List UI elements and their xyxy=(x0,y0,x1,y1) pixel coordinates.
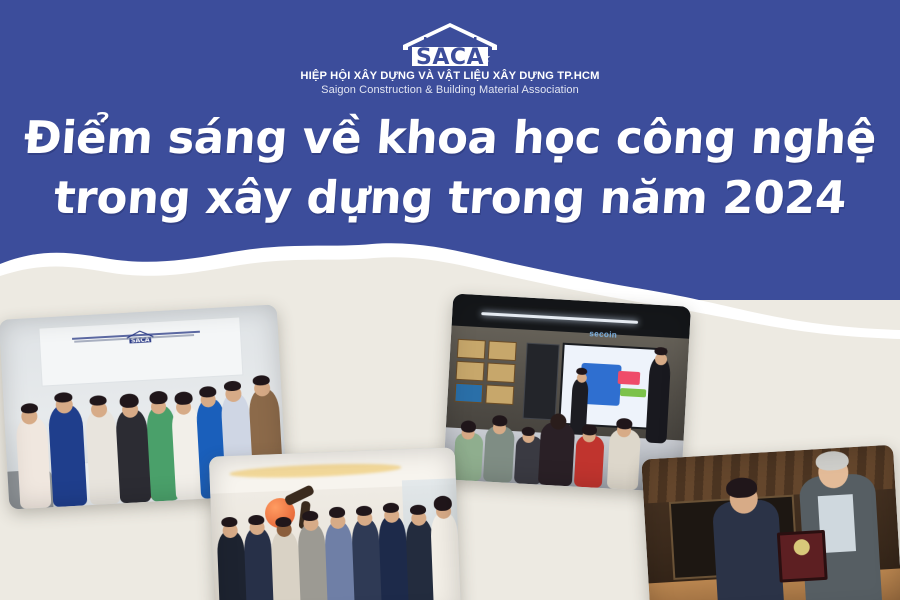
photo-vignette xyxy=(209,447,461,600)
photo-3-scene xyxy=(209,447,461,600)
svg-text:SACA: SACA xyxy=(416,45,484,66)
saca-house-logo-icon: SACA xyxy=(394,22,506,66)
title-line-2: trong xây dựng trong năm 2024 xyxy=(0,168,900,228)
collage-photo-3[interactable] xyxy=(209,447,461,600)
title-line-1: Điểm sáng về khoa học công nghệ xyxy=(0,108,900,168)
photo-vignette xyxy=(641,445,900,600)
collage-photo-4[interactable] xyxy=(641,445,900,600)
poster-canvas: SACA HIỆP HỘI XÂY DỰNG VÀ VẬT LIỆU XÂY D… xyxy=(0,0,900,600)
brand-name-vietnamese: HIỆP HỘI XÂY DỰNG VÀ VẬT LIỆU XÂY DỰNG T… xyxy=(0,70,900,82)
photo-4-scene xyxy=(641,445,900,600)
page-title: Điểm sáng về khoa học công nghệ trong xâ… xyxy=(0,108,900,228)
brand-block: SACA HIỆP HỘI XÂY DỰNG VÀ VẬT LIỆU XÂY D… xyxy=(0,22,900,96)
brand-name-english: Saigon Construction & Building Material … xyxy=(0,84,900,96)
